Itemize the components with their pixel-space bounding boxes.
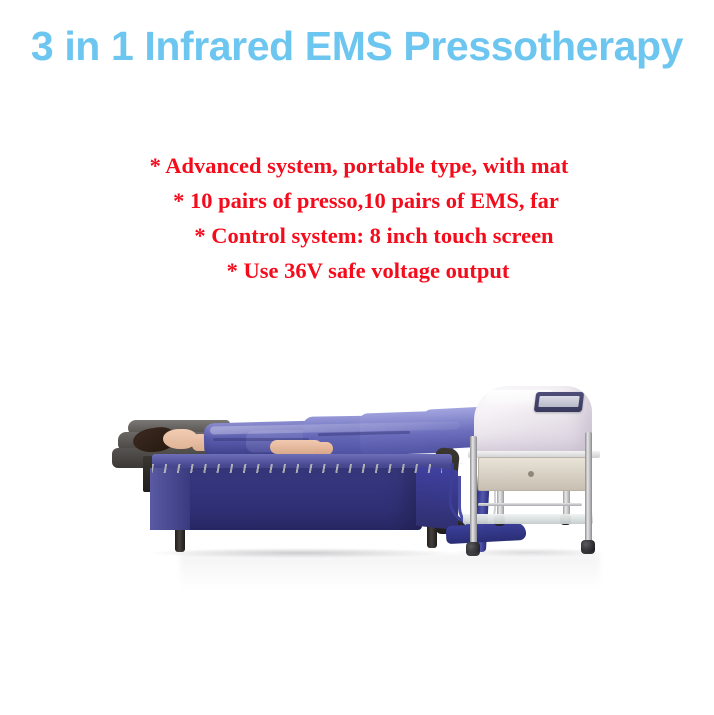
trolley-post-left-front	[470, 436, 477, 544]
mat-skirt	[150, 468, 422, 530]
product-photo-scene	[0, 372, 714, 622]
trolley-glass-shelf	[463, 514, 593, 524]
page-title: 3 in 1 Infrared EMS Pressotherapy	[0, 20, 714, 72]
mat-fringe-ties	[152, 464, 442, 473]
feature-line-1: * Advanced system, portable type, with m…	[0, 148, 714, 183]
feature-line-3: * Control system: 8 inch touch screen	[0, 218, 714, 253]
trolley-rail	[478, 503, 582, 506]
mat-skirt-fold	[150, 468, 190, 530]
feature-list: * Advanced system, portable type, with m…	[0, 148, 714, 288]
hose-coil-on-floor	[446, 522, 527, 544]
trolley-drawer-knob[interactable]	[528, 471, 534, 477]
feature-line-2: * 10 pairs of presso,10 pairs of EMS, fa…	[0, 183, 714, 218]
machine-screen-display	[538, 396, 579, 407]
trolley-post-right-front	[585, 432, 592, 544]
feature-line-4: * Use 36V safe voltage output	[0, 253, 714, 288]
product-photo	[0, 372, 714, 622]
floor-reflection	[180, 554, 600, 596]
